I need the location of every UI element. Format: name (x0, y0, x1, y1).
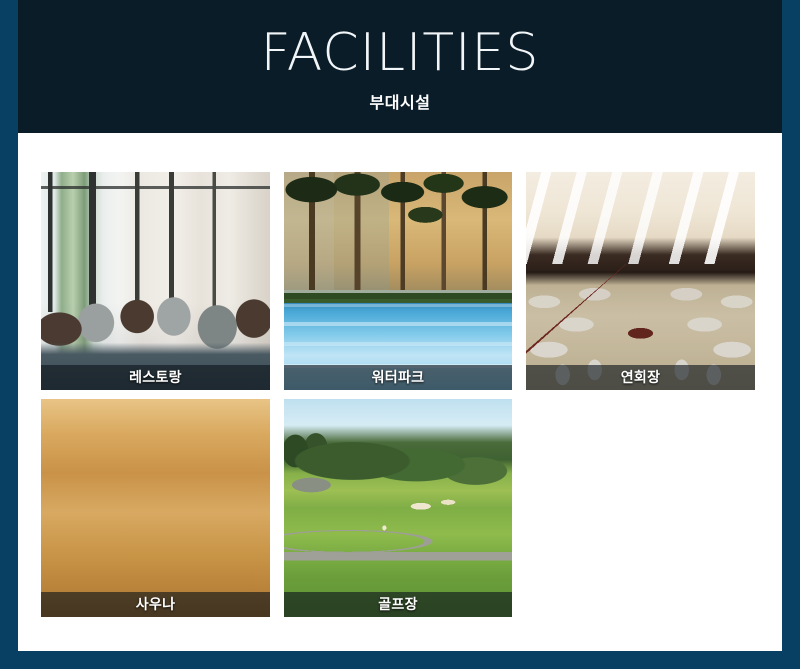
facilities-grid: 레스토랑 워터파크 연회장 사우나 골프장 (41, 172, 761, 626)
page-subtitle: 부대시설 (18, 89, 782, 113)
content-panel: 레스토랑 워터파크 연회장 사우나 골프장 (18, 133, 782, 651)
facility-caption: 연회장 (526, 365, 755, 390)
water-park-pool-photo (284, 172, 512, 390)
facility-caption: 레스토랑 (41, 365, 270, 390)
banquet-hall-photo (526, 172, 755, 390)
sauna-interior-photo (41, 399, 270, 617)
facility-caption: 워터파크 (284, 365, 512, 390)
facilities-row-1: 레스토랑 워터파크 연회장 (41, 172, 761, 390)
page-header: FACILITIES 부대시설 (18, 0, 782, 133)
facility-card-water-park[interactable]: 워터파크 (284, 172, 512, 390)
facilities-page: FACILITIES 부대시설 레스토랑 워터파크 연회장 (0, 0, 800, 669)
facility-card-golf-course[interactable]: 골프장 (284, 399, 512, 617)
facility-card-restaurant[interactable]: 레스토랑 (41, 172, 270, 390)
facility-card-banquet-hall[interactable]: 연회장 (526, 172, 755, 390)
golf-course-photo (284, 399, 512, 617)
facility-card-sauna[interactable]: 사우나 (41, 399, 270, 617)
page-title: FACILITIES (18, 27, 782, 79)
facilities-row-2: 사우나 골프장 (41, 399, 761, 617)
facility-caption: 사우나 (41, 592, 270, 617)
facility-caption: 골프장 (284, 592, 512, 617)
restaurant-interior-photo (41, 172, 270, 390)
